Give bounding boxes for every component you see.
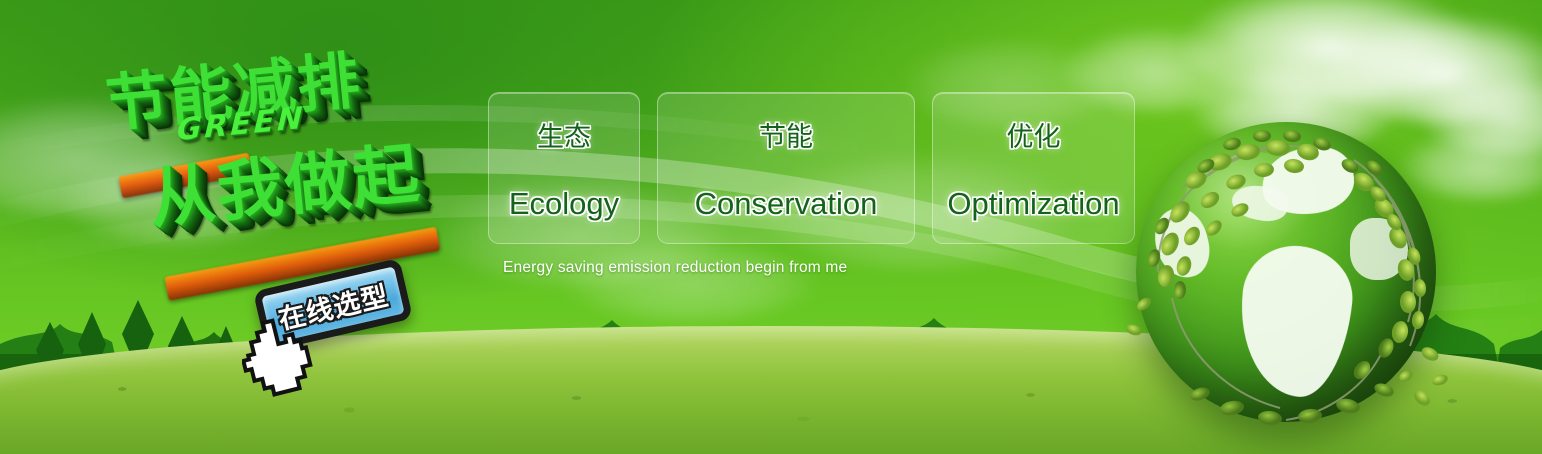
feature-card-cn-label: 节能 <box>759 115 813 154</box>
cloud <box>560 236 820 322</box>
feature-card-conservation[interactable]: 节能 Conservation <box>657 92 915 244</box>
feature-card-en-label: Optimization <box>947 186 1119 222</box>
feature-card-cn-label: 优化 <box>1007 115 1061 154</box>
feature-card-cn-label: 生态 <box>537 115 591 154</box>
feature-cards: 生态 Ecology 节能 Conservation 优化 Optimizati… <box>488 92 1135 244</box>
headline-artwork: 节能减排 GREEN 从我做起 <box>93 18 494 293</box>
cloud <box>1320 14 1542 124</box>
cloud <box>1420 76 1542 156</box>
feature-card-optimization[interactable]: 优化 Optimization <box>932 92 1135 244</box>
continent-south-america <box>1232 241 1357 402</box>
continent-east-landmass <box>1350 218 1408 280</box>
leafy-earth-globe <box>1136 122 1436 422</box>
hand-pointer-icon <box>242 318 318 400</box>
globe-sphere <box>1136 122 1436 422</box>
cloud <box>1180 0 1480 102</box>
banner-tagline: Energy saving emission reduction begin f… <box>503 259 847 277</box>
feature-card-en-label: Ecology <box>509 186 619 222</box>
green-energy-banner: 节能减排 GREEN 从我做起 在线选型 生态 Ecology 节能 Conse… <box>0 0 1542 454</box>
feature-card-ecology[interactable]: 生态 Ecology <box>488 92 640 244</box>
feature-card-en-label: Conservation <box>695 186 878 222</box>
